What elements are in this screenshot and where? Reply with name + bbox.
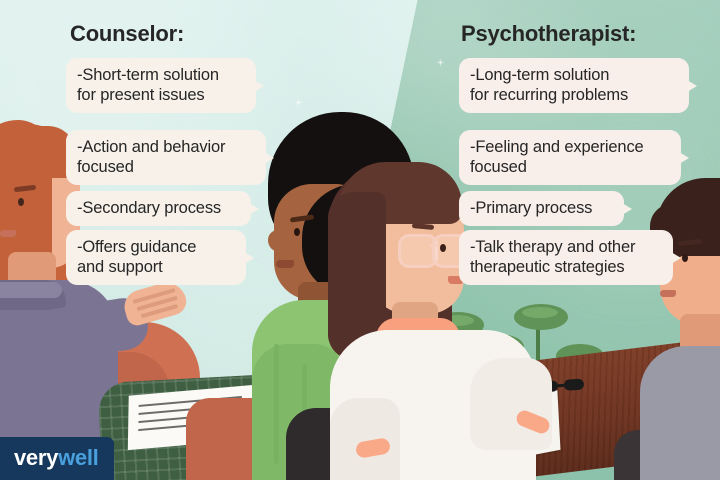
logo-text-well: well [58, 445, 98, 471]
eye [440, 244, 446, 252]
infographic-canvas: Counselor: Psychotherapist: -Short-term … [0, 0, 720, 480]
lips [276, 260, 294, 268]
speech-bubble-psychotherapist-1: -Long-term solution for recurring proble… [459, 58, 689, 113]
eyeglasses-bridge [430, 244, 438, 247]
eye [294, 228, 300, 236]
gray-top [640, 346, 720, 480]
speech-bubble-counselor-1: -Short-term solution for present issues [66, 58, 256, 113]
sweater-sleeve [470, 358, 552, 450]
lips [0, 230, 16, 237]
hair-bangs [0, 126, 76, 178]
speech-bubble-counselor-3: -Secondary process [66, 191, 251, 226]
lips [660, 290, 676, 297]
speech-bubble-psychotherapist-3: -Primary process [459, 191, 624, 226]
speech-bubble-counselor-2: -Action and behavior focused [66, 130, 266, 185]
verywell-logo[interactable]: very well [0, 437, 114, 480]
eye [682, 254, 688, 262]
sparkle-icon [434, 56, 447, 69]
eye [18, 198, 24, 206]
speech-bubble-counselor-4: -Offers guidance and support [66, 230, 246, 285]
sweater-fold [274, 344, 279, 464]
speech-bubble-psychotherapist-4: -Talk therapy and other therapeutic stra… [459, 230, 673, 285]
figure-man-right [646, 178, 720, 480]
sweater-collar-highlight [0, 282, 62, 298]
logo-text-very: very [14, 445, 58, 471]
plant-leaf-highlight [522, 307, 558, 318]
nose [268, 230, 288, 252]
white-sweater-shadow [330, 398, 400, 480]
sparkle-icon [292, 96, 305, 109]
speech-bubble-psychotherapist-2: -Feeling and experience focused [459, 130, 681, 185]
heading-counselor: Counselor: [70, 21, 184, 47]
heading-psychotherapist: Psychotherapist: [461, 21, 636, 47]
glasses-lens [564, 378, 585, 390]
